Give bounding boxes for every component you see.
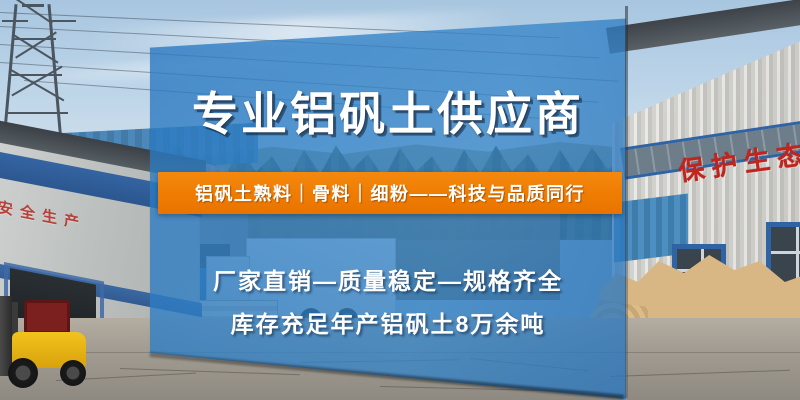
banner-headline: 专业铝矾土供应商 xyxy=(148,78,628,144)
banner-tagline-1: 厂家直销—质量稳定—规格齐全 xyxy=(148,262,628,296)
banner-content: 专业铝矾土供应商 铝矾土熟料｜骨料｜细粉——科技与品质同行 厂家直销—质量稳定—… xyxy=(148,0,628,400)
banner-image: 安全生产 保护生态 xyxy=(0,0,800,400)
banner-subheadline: 铝矾土熟料｜骨料｜细粉——科技与品质同行 xyxy=(195,180,585,206)
orange-subhead-bar: 铝矾土熟料｜骨料｜细粉——科技与品质同行 xyxy=(158,172,622,214)
banner-tagline-2: 库存充足年产铝矾土8万余吨 xyxy=(148,305,628,339)
